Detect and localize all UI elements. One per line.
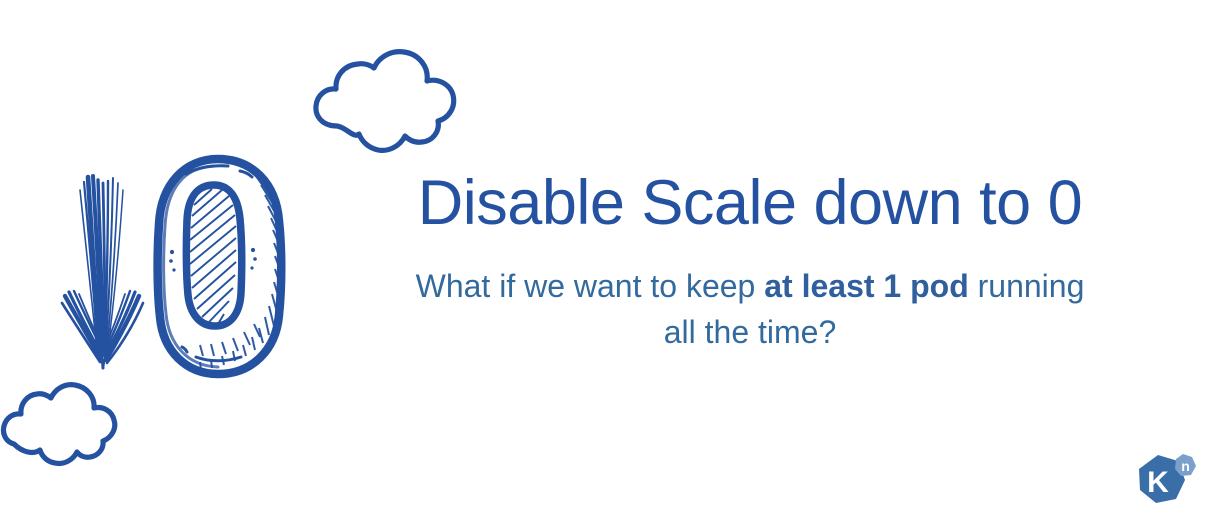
- text-block: Disable Scale down to 0 What if we want …: [350, 170, 1150, 356]
- logo-n-letter: n: [1181, 458, 1190, 474]
- sparkle-dots: [169, 248, 257, 272]
- page-title: Disable Scale down to 0: [350, 170, 1150, 237]
- cloud-top-icon: [316, 52, 454, 151]
- subtitle-emphasis: at least 1 pod: [764, 268, 969, 304]
- down-arrow-icon: [62, 176, 143, 368]
- zero-digit-icon: [158, 159, 284, 374]
- subtitle-line-2: all the time?: [664, 314, 837, 350]
- subtitle-text-part1: What if we want to keep: [416, 268, 765, 304]
- slide-canvas: Disable Scale down to 0 What if we want …: [0, 0, 1212, 525]
- page-subtitle: What if we want to keep at least 1 pod r…: [350, 263, 1150, 356]
- cloud-bottom-icon: [3, 385, 114, 464]
- subtitle-text-part2: running: [969, 268, 1085, 304]
- knative-logo: K n: [1128, 449, 1200, 521]
- logo-k-letter: K: [1147, 466, 1169, 499]
